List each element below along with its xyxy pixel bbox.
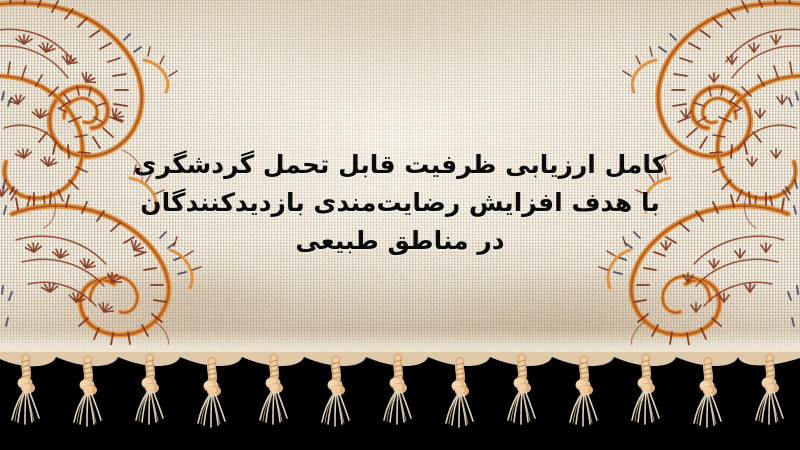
slide-canvas: کامل ارزیابی ظرفیت قابل تحمل گردشگری با … [0,0,800,450]
textile-background [0,0,800,368]
fabric-texture-overlay [0,0,800,368]
fabric-hem [0,330,800,370]
